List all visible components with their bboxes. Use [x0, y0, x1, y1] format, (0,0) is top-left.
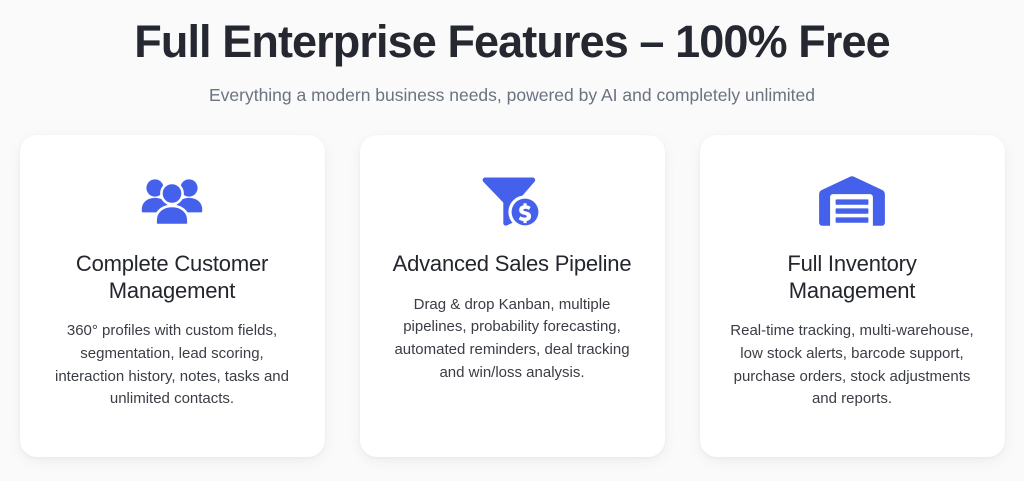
feature-card-title: Full Inventory Management: [724, 251, 981, 304]
page-subtitle: Everything a modern business needs, powe…: [209, 83, 815, 108]
feature-card-inventory-management[interactable]: Full Inventory Management Real-time trac…: [700, 135, 1005, 457]
feature-card-description: 360° profiles with custom fields, segmen…: [47, 320, 297, 411]
feature-cards-row: Complete Customer Management 360° profil…: [20, 135, 1005, 457]
features-section: Full Enterprise Features – 100% Free Eve…: [0, 0, 1024, 481]
feature-card-description: Drag & drop Kanban, multiple pipelines, …: [387, 294, 637, 385]
feature-card-title: Advanced Sales Pipeline: [393, 251, 632, 277]
sales-funnel-dollar-icon: [482, 173, 542, 229]
feature-card-title: Complete Customer Management: [44, 251, 301, 304]
page-title: Full Enterprise Features – 100% Free: [134, 16, 889, 68]
feature-card-customer-management[interactable]: Complete Customer Management 360° profil…: [20, 135, 325, 457]
feature-card-description: Real-time tracking, multi-warehouse, low…: [727, 320, 977, 411]
feature-card-sales-pipeline[interactable]: Advanced Sales Pipeline Drag & drop Kanb…: [360, 135, 665, 457]
users-group-icon: [141, 173, 203, 229]
warehouse-icon: [819, 173, 885, 229]
